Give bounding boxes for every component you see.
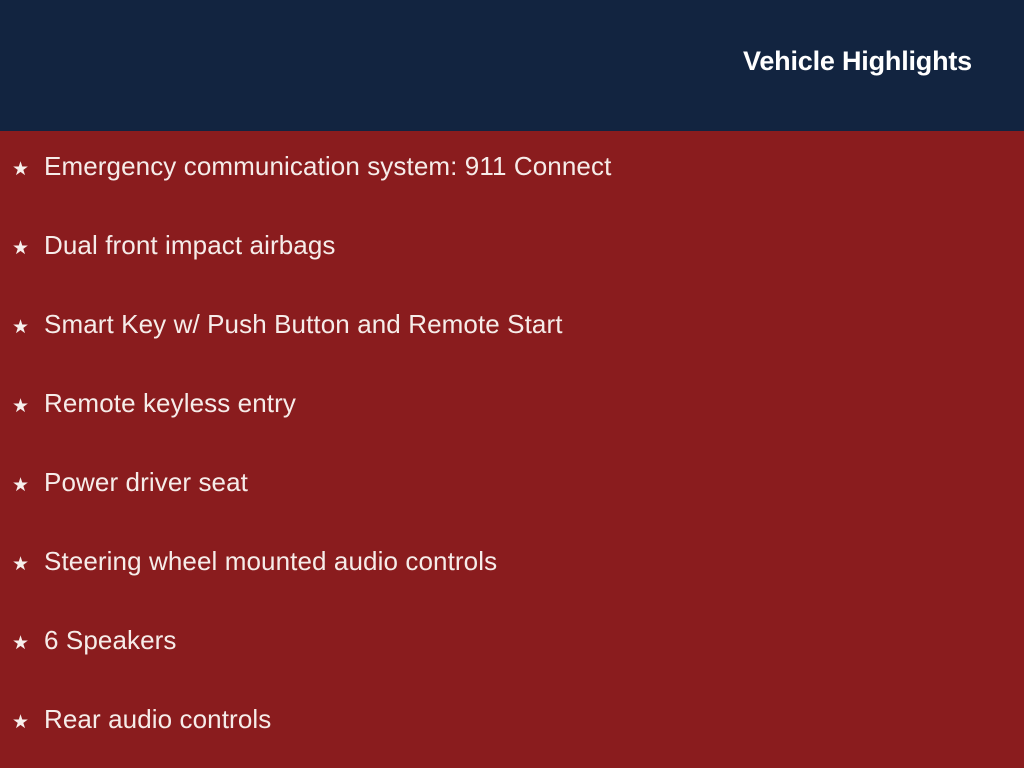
star-bullet-icon: ★ xyxy=(12,160,44,179)
star-bullet-icon: ★ xyxy=(12,634,44,653)
list-item: ★Rear audio controls xyxy=(12,706,271,746)
star-bullet-icon: ★ xyxy=(12,318,44,337)
list-item: ★Smart Key w/ Push Button and Remote Sta… xyxy=(12,311,563,351)
star-bullet-icon: ★ xyxy=(12,713,44,732)
highlight-label: Remote keyless entry xyxy=(44,390,296,416)
highlight-label: Smart Key w/ Push Button and Remote Star… xyxy=(44,311,563,337)
list-item: ★Power driver seat xyxy=(12,469,248,509)
star-bullet-icon: ★ xyxy=(12,476,44,495)
list-item: ★6 Speakers xyxy=(12,627,177,667)
highlights-panel: ★Emergency communication system: 911 Con… xyxy=(0,131,1024,768)
highlight-label: Dual front impact airbags xyxy=(44,232,336,258)
page-title: Vehicle Highlights xyxy=(743,47,972,77)
slide-root: Vehicle Highlights ★Emergency communicat… xyxy=(0,0,1024,768)
star-bullet-icon: ★ xyxy=(12,239,44,258)
highlight-label: Steering wheel mounted audio controls xyxy=(44,548,497,574)
highlight-label: Power driver seat xyxy=(44,469,248,495)
list-item: ★Emergency communication system: 911 Con… xyxy=(12,153,611,193)
star-bullet-icon: ★ xyxy=(12,397,44,416)
star-bullet-icon: ★ xyxy=(12,555,44,574)
highlight-label: 6 Speakers xyxy=(44,627,177,653)
highlight-label: Emergency communication system: 911 Conn… xyxy=(44,153,611,179)
highlight-label: Rear audio controls xyxy=(44,706,271,732)
header-band: Vehicle Highlights xyxy=(0,0,1024,131)
list-item: ★Dual front impact airbags xyxy=(12,232,336,272)
list-item: ★Remote keyless entry xyxy=(12,390,296,430)
list-item: ★Steering wheel mounted audio controls xyxy=(12,548,497,588)
